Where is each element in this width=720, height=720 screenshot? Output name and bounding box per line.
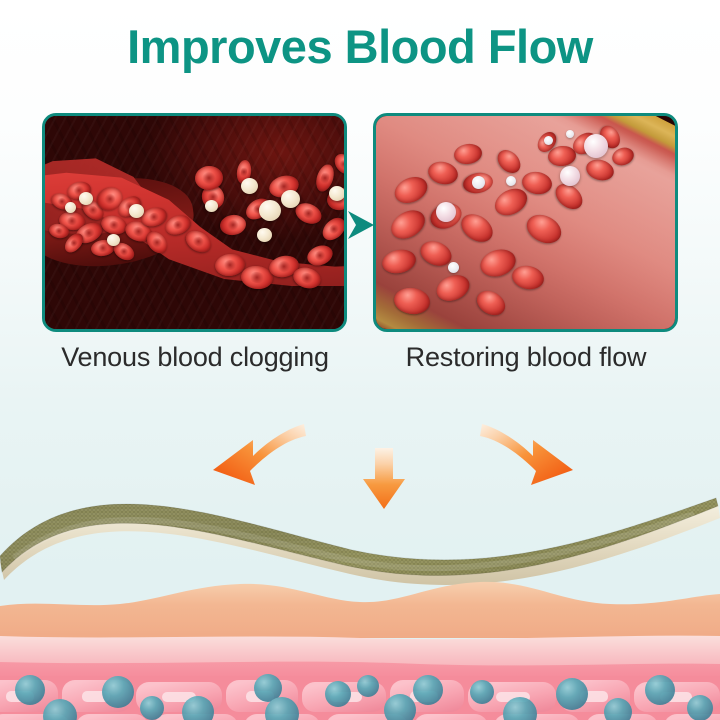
skin-cross-section <box>0 578 720 720</box>
caption-after: Restoring blood flow <box>371 342 681 373</box>
comparison-panel-before[interactable] <box>42 113 347 332</box>
caption-before: Venous blood clogging <box>40 342 350 373</box>
comparison-panel-after[interactable] <box>373 113 678 332</box>
infographic-poster: Improves Blood Flow <box>0 0 720 720</box>
herbal-patch[interactable] <box>0 452 720 597</box>
before-image <box>45 116 344 329</box>
page-title: Improves Blood Flow <box>0 22 720 71</box>
after-image <box>376 116 675 329</box>
